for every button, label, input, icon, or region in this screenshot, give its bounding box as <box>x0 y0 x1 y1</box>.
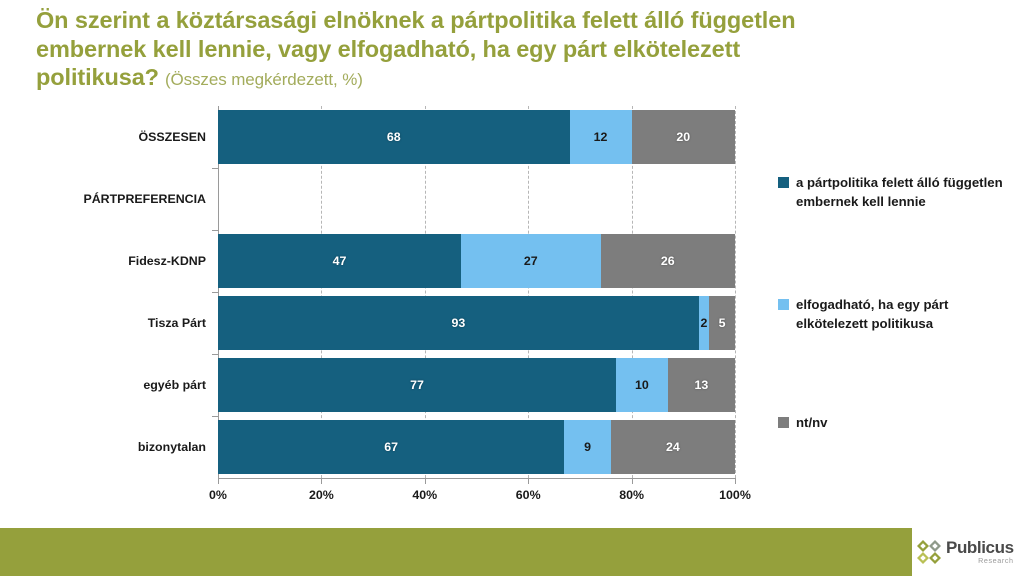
bar-value-label: 27 <box>524 254 538 268</box>
bar-value-label: 77 <box>410 378 424 392</box>
x-axis-tick-label: 60% <box>516 488 541 502</box>
legend-swatch-icon <box>778 417 789 428</box>
bar-segment[interactable]: 27 <box>461 234 601 288</box>
bar-row[interactable]: 472726 <box>218 234 735 288</box>
x-axis-tick <box>218 478 219 484</box>
x-axis-tick <box>425 478 426 484</box>
gridline <box>735 106 736 478</box>
category-label: Tisza Párt <box>148 316 206 330</box>
brand-logo: Publicus Research <box>912 528 1024 576</box>
logo-subtitle: Research <box>946 557 1014 564</box>
legend-label: a pártpolitika felett álló független emb… <box>796 174 1008 211</box>
legend-label: elfogadható, ha egy párt elkötelezett po… <box>796 296 1008 333</box>
category-axis-labels: ÖSSZESENPÁRTPREFERENCIAFidesz-KDNPTisza … <box>60 106 212 478</box>
category-label: Fidesz-KDNP <box>128 254 206 268</box>
y-axis-tick <box>212 416 218 417</box>
bar-segment[interactable]: 5 <box>709 296 735 350</box>
bar-value-label: 13 <box>694 378 708 392</box>
title-line-1: Ön szerint a köztársasági elnöknek a pár… <box>36 6 986 35</box>
bar-row[interactable]: 771013 <box>218 358 735 412</box>
bar-value-label: 68 <box>387 130 401 144</box>
chart-legend: a pártpolitika felett álló független emb… <box>778 106 1018 478</box>
category-label: egyéb párt <box>143 378 206 392</box>
bar-value-label: 12 <box>594 130 608 144</box>
y-axis-tick <box>212 168 218 169</box>
y-axis-tick <box>212 230 218 231</box>
title-line-3: politikusa? (Összes megkérdezett, %) <box>36 63 986 92</box>
bar-value-label: 10 <box>635 378 649 392</box>
bar-value-label: 9 <box>584 440 591 454</box>
legend-item[interactable]: a pártpolitika felett álló független emb… <box>778 174 1008 211</box>
legend-item[interactable]: nt/nv <box>778 414 1008 433</box>
bar-segment[interactable]: 24 <box>611 420 735 474</box>
legend-swatch-icon <box>778 299 789 310</box>
logo-name: Publicus <box>946 539 1014 556</box>
x-axis-tick-label: 100% <box>719 488 751 502</box>
bar-segment[interactable]: 20 <box>632 110 735 164</box>
bar-segment[interactable]: 13 <box>668 358 735 412</box>
legend-label: nt/nv <box>796 414 828 433</box>
bar-segment[interactable]: 2 <box>699 296 709 350</box>
bar-value-label: 24 <box>666 440 680 454</box>
x-axis-tick <box>321 478 322 484</box>
slide-root: Ön szerint a köztársasági elnöknek a pár… <box>0 0 1024 576</box>
bar-segment[interactable]: 9 <box>564 420 611 474</box>
bar-segment[interactable]: 77 <box>218 358 616 412</box>
x-axis-tick-label: 20% <box>309 488 334 502</box>
title-line-3-text: politikusa? <box>36 63 159 92</box>
legend-item[interactable]: elfogadható, ha egy párt elkötelezett po… <box>778 296 1008 333</box>
publicus-diamond-icon <box>916 539 942 565</box>
title-line-2: embernek kell lennie, vagy elfogadható, … <box>36 35 986 64</box>
bar-value-label: 5 <box>719 316 726 330</box>
legend-swatch-icon <box>778 177 789 188</box>
bar-segment[interactable]: 12 <box>570 110 632 164</box>
x-axis-tick <box>735 478 736 484</box>
bar-segment[interactable]: 67 <box>218 420 564 474</box>
bar-segment[interactable]: 68 <box>218 110 570 164</box>
bar-row[interactable]: 9325 <box>218 296 735 350</box>
bar-segment[interactable]: 26 <box>601 234 735 288</box>
bar-row[interactable]: 681220 <box>218 110 735 164</box>
x-axis-tick <box>528 478 529 484</box>
title-subtitle: (Összes megkérdezett, %) <box>165 70 363 90</box>
x-axis-tick-label: 40% <box>412 488 437 502</box>
footer-bar <box>0 528 912 576</box>
x-axis-line <box>218 478 736 479</box>
x-axis-tick-label: 0% <box>209 488 227 502</box>
x-axis-tick-label: 80% <box>619 488 644 502</box>
bar-value-label: 26 <box>661 254 675 268</box>
x-axis-tick <box>632 478 633 484</box>
bar-value-label: 47 <box>333 254 347 268</box>
bar-value-label: 67 <box>384 440 398 454</box>
bar-segment[interactable]: 93 <box>218 296 699 350</box>
y-axis-tick <box>212 354 218 355</box>
bar-value-label: 2 <box>701 316 708 330</box>
bar-row[interactable]: 67924 <box>218 420 735 474</box>
bar-segment[interactable]: 47 <box>218 234 461 288</box>
bar-segment[interactable]: 10 <box>616 358 668 412</box>
page-title: Ön szerint a köztársasági elnöknek a pár… <box>36 6 986 92</box>
category-label: ÖSSZESEN <box>139 130 206 144</box>
category-label: PÁRTPREFERENCIA <box>83 192 206 206</box>
bar-value-label: 20 <box>676 130 690 144</box>
plot-area: 681220472726932577101367924 <box>218 106 735 478</box>
bar-value-label: 93 <box>452 316 466 330</box>
category-label: bizonytalan <box>138 440 206 454</box>
y-axis-tick <box>212 292 218 293</box>
